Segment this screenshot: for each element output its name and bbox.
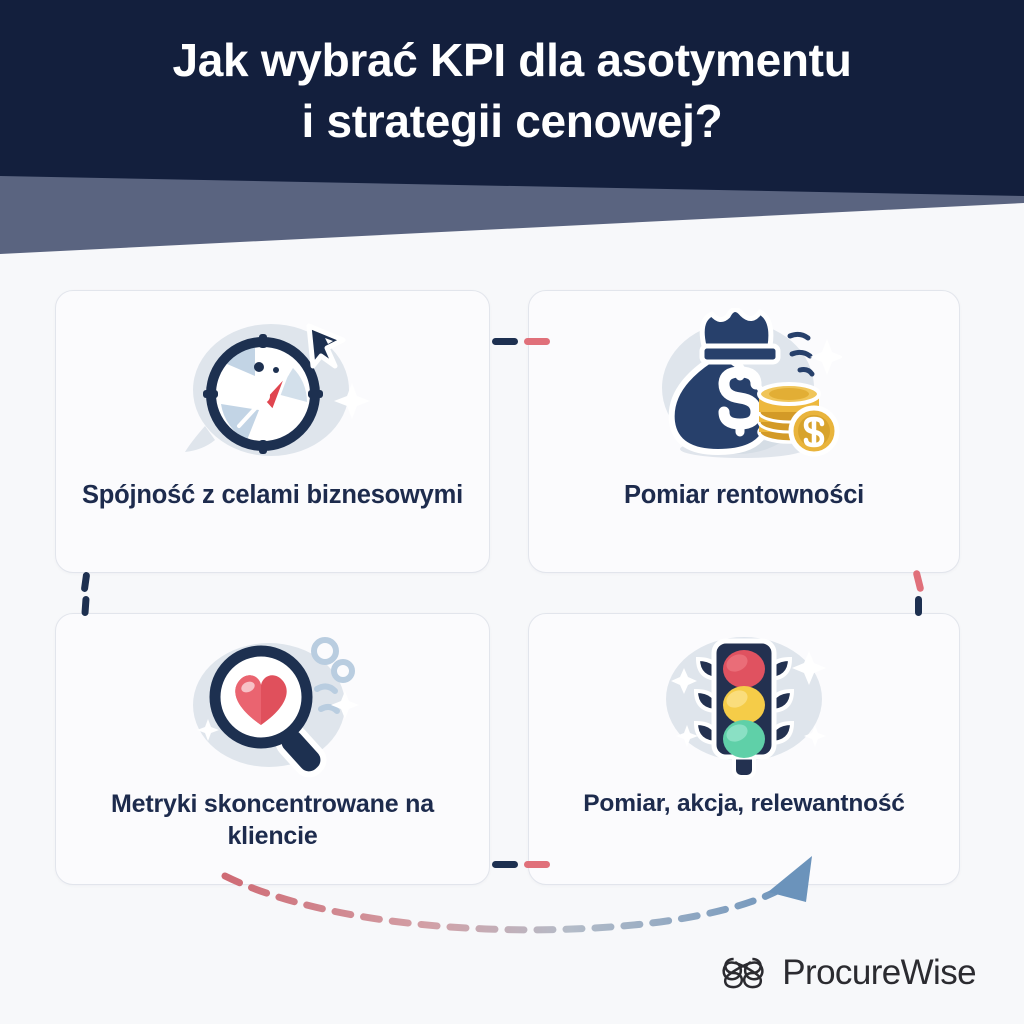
money-bag-coins-icon bbox=[644, 307, 844, 475]
connector-dash-left-lower bbox=[81, 596, 89, 616]
page-title-line-2: i strategii cenowej? bbox=[30, 91, 994, 152]
interlocking-knot-icon bbox=[718, 948, 768, 998]
magnifier-heart-icon bbox=[173, 626, 373, 784]
infographic-root: Jak wybrać KPI dla asotymentu i strategi… bbox=[0, 0, 1024, 1024]
footer-brand[interactable]: ProcureWise bbox=[718, 948, 976, 998]
bottom-curved-arrow bbox=[0, 840, 1024, 960]
connector-dash-top-red bbox=[524, 338, 550, 345]
compass-arrow-icon bbox=[173, 307, 373, 475]
card-label: Pomiar rentowności bbox=[606, 479, 882, 512]
connector-dash-left-upper bbox=[81, 572, 91, 593]
card-pomiar-rentownosci[interactable]: Pomiar rentowności bbox=[528, 290, 960, 573]
traffic-light-icon bbox=[644, 626, 844, 784]
connector-dash-right-lower bbox=[915, 596, 922, 616]
connector-dash-bottom-navy bbox=[492, 861, 518, 868]
connector-dash-top-navy bbox=[492, 338, 518, 345]
card-spojnosc-z-celami[interactable]: Spójność z celami biznesowymi bbox=[55, 290, 490, 573]
card-label: Spójność z celami biznesowymi bbox=[64, 479, 481, 512]
header-banner: Jak wybrać KPI dla asotymentu i strategi… bbox=[0, 0, 1024, 270]
connector-dash-bottom-red bbox=[524, 861, 550, 868]
page-title: Jak wybrać KPI dla asotymentu i strategi… bbox=[0, 30, 1024, 151]
card-label: Pomiar, akcja, relewantność bbox=[565, 788, 922, 819]
brand-name: ProcureWise bbox=[782, 953, 976, 993]
page-title-line-1: Jak wybrać KPI dla asotymentu bbox=[30, 30, 994, 91]
